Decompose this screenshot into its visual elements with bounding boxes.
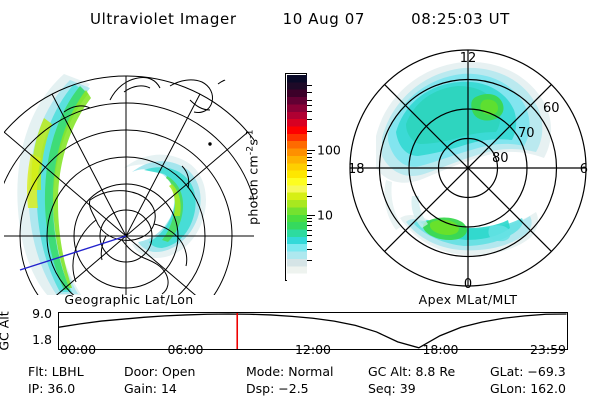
colorbar-minor-tick <box>307 230 312 231</box>
strip-xtick-label: 23:59 <box>530 342 566 357</box>
status-field-dsp: Dsp: −2.5 <box>246 381 309 396</box>
status-field-value: 39 <box>400 381 416 396</box>
mlt-label-0: 0 <box>464 277 472 292</box>
colorbar-minor-tick <box>307 105 312 106</box>
strip-xtick-label: 12:00 <box>295 342 331 357</box>
status-field-label: Seq: <box>368 381 400 396</box>
mag-aurora-layer <box>376 62 551 255</box>
colorbar-minor-tick <box>307 241 312 242</box>
observation-date: 10 Aug 07 <box>283 10 365 28</box>
status-field-label: IP: <box>28 381 47 396</box>
strip-xtick-label: 06:00 <box>167 342 203 357</box>
colorbar-minor-tick <box>307 170 312 171</box>
colorbar-minor-tick <box>307 119 312 120</box>
geo-coastline <box>64 77 244 294</box>
header-bar: Ultraviolet Imager 10 Aug 07 08:25:03 UT <box>0 6 600 32</box>
status-field-seq: Seq: 39 <box>368 381 416 396</box>
observation-time: 08:25:03 UT <box>411 10 510 28</box>
status-field-door: Door: Open <box>124 364 195 379</box>
strip-ytick-bottom: 1.8 <box>18 332 52 347</box>
colorbar-minor-tick <box>307 111 312 112</box>
strip-xtick-label: 18:00 <box>422 342 458 357</box>
status-field-mode: Mode: Normal <box>246 364 333 379</box>
colorbar-minor-tick <box>307 196 312 197</box>
status-field-value: −69.3 <box>527 364 565 379</box>
status-field-value: Open <box>162 364 195 379</box>
status-field-label: Dsp: <box>246 381 278 396</box>
colorbar-axis-label: photon cm-2s-1 <box>245 129 260 225</box>
mlt-label-18: 18 <box>348 162 365 177</box>
colorbar-minor-tick <box>307 225 312 226</box>
mlt-label-12: 12 <box>460 51 477 66</box>
geographic-plot-canvas <box>4 40 254 295</box>
mlat-label-70: 70 <box>518 126 535 141</box>
geographic-plot[interactable] <box>4 40 254 295</box>
colorbar-minor-tick <box>307 184 312 185</box>
magnetic-plot[interactable]: 12 6 0 18 60 70 80 <box>340 40 596 295</box>
status-field-value: 14 <box>161 381 177 396</box>
instrument-title: Ultraviolet Imager <box>90 10 237 28</box>
status-row-0: Flt: LBHLDoor: OpenMode: NormalGC Alt: 8… <box>0 364 600 381</box>
strip-xtick-label: 00:00 <box>60 342 96 357</box>
status-field-label: GC Alt: <box>368 364 416 379</box>
status-field-label: GLon: <box>490 381 530 396</box>
status-field-gc-alt: GC Alt: 8.8 Re <box>368 364 455 379</box>
status-field-value: 162.0 <box>530 381 566 396</box>
colorbar: photon cm-2s-1 10010 <box>255 55 341 295</box>
colorbar-tick-label: 10 <box>317 208 333 223</box>
colorbar-minor-tick <box>307 260 312 261</box>
status-field-glon: GLon: 162.0 <box>490 381 566 396</box>
strip-ylabel: GC Alt <box>0 311 12 350</box>
status-field-glat: GLat: −69.3 <box>490 364 566 379</box>
colorbar-minor-tick <box>307 131 312 132</box>
colorbar-unit-main: photon cm <box>246 155 261 225</box>
colorbar-minor-tick <box>307 165 312 166</box>
mlat-label-80: 80 <box>492 151 509 166</box>
status-field-value: Normal <box>288 364 333 379</box>
colorbar-unit-exp1: -2 <box>245 146 255 156</box>
colorbar-major-tick <box>307 150 315 151</box>
status-field-label: Mode: <box>246 364 288 379</box>
colorbar-minor-tick <box>307 249 312 250</box>
colorbar-major-tick <box>307 215 315 216</box>
colorbar-minor-tick <box>307 221 312 222</box>
colorbar-minor-tick <box>307 160 312 161</box>
status-row-1: IP: 36.0Gain: 14Dsp: −2.5Seq: 39GLon: 16… <box>0 381 600 398</box>
status-footer: Flt: LBHLDoor: OpenMode: NormalGC Alt: 8… <box>0 362 600 400</box>
status-field-label: Gain: <box>124 381 161 396</box>
status-field-label: Flt: <box>28 364 52 379</box>
colorbar-minor-tick <box>307 85 312 86</box>
status-field-gain: Gain: 14 <box>124 381 177 396</box>
status-field-label: GLat: <box>490 364 527 379</box>
strip-ytick-top: 9.0 <box>18 306 52 321</box>
magnetic-plot-canvas: 12 6 0 18 60 70 80 <box>340 40 596 295</box>
status-field-label: Door: <box>124 364 162 379</box>
orbit-altitude-strip[interactable]: GC Alt 9.0 1.8 00:0006:0012:0018:0023:59 <box>0 300 600 358</box>
status-field-value: 36.0 <box>47 381 75 396</box>
status-field-value: −2.5 <box>278 381 308 396</box>
colorbar-unit-exp2: -1 <box>245 129 255 139</box>
status-field-value: LBHL <box>52 364 84 379</box>
colorbar-minor-tick <box>307 157 312 158</box>
colorbar-minor-tick <box>307 176 312 177</box>
colorbar-gradient <box>287 75 307 281</box>
colorbar-frame <box>285 73 307 281</box>
colorbar-tick-label: 100 <box>317 143 341 158</box>
colorbar-unit-mid: s <box>246 139 261 146</box>
mag-graticule <box>350 50 586 286</box>
colorbar-minor-tick <box>307 153 312 154</box>
colorbar-minor-tick <box>307 92 312 93</box>
colorbar-minor-tick <box>307 235 312 236</box>
status-field-value: 8.8 Re <box>416 364 456 379</box>
mlat-label-60: 60 <box>543 101 560 116</box>
colorbar-minor-tick <box>307 218 312 219</box>
colorbar-minor-tick <box>307 100 312 101</box>
status-field-flt: Flt: LBHL <box>28 364 84 379</box>
mlt-label-6: 6 <box>580 162 588 177</box>
status-field-ip: IP: 36.0 <box>28 381 75 396</box>
